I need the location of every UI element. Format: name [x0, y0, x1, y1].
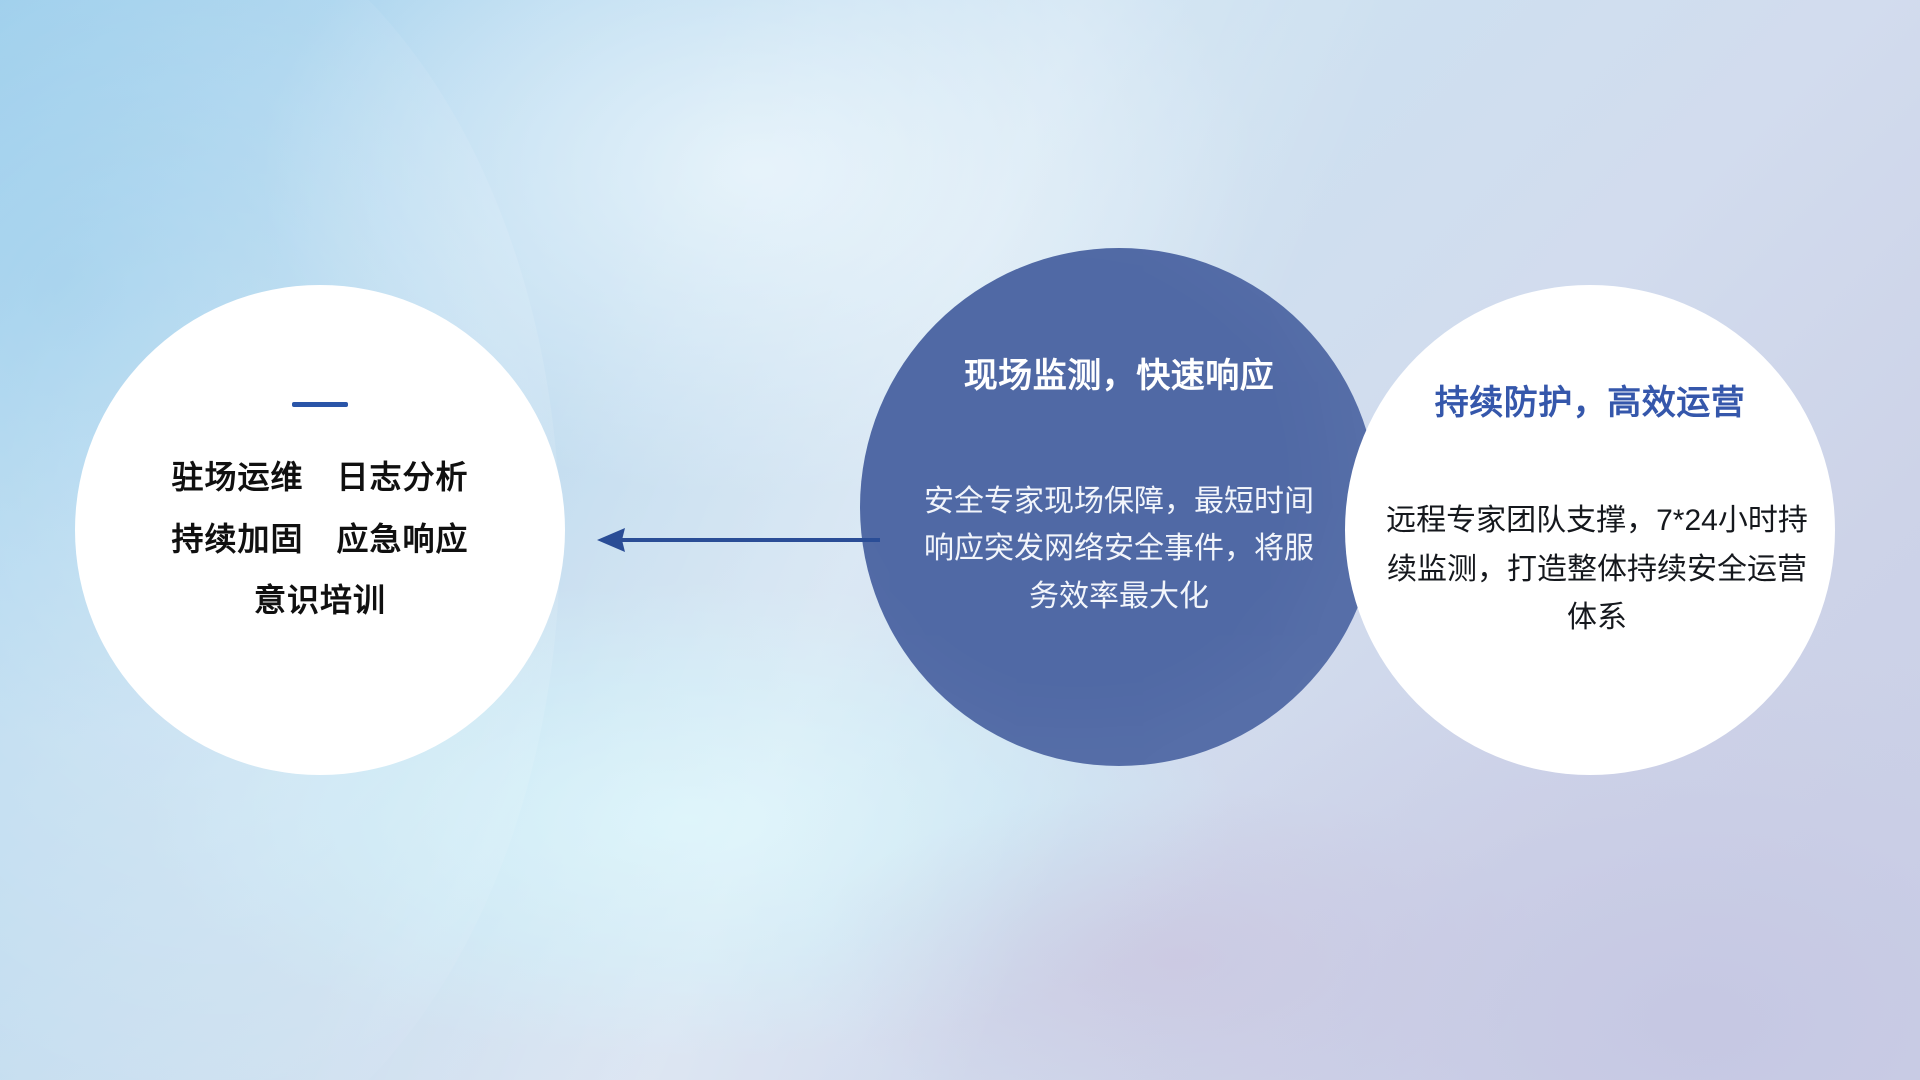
onsite-monitoring-circle[interactable]: 现场监测，快速响应 安全专家现场保障，最短时间响应突发网络安全事件，将服务效率最…: [860, 248, 1378, 766]
list-item: 驻场运维 日志分析: [75, 461, 565, 495]
continuous-operation-circle[interactable]: 持续防护，高效运营 远程专家团队支撑，7*24小时持续监测，打造整体持续安全运营…: [1345, 285, 1835, 775]
accent-divider-dash: [292, 402, 348, 407]
list-item: 持续加固 应急响应: [75, 523, 565, 557]
left-capability-circle[interactable]: 驻场运维 日志分析 持续加固 应急响应 意识培训: [75, 285, 565, 775]
capability-list: 驻场运维 日志分析 持续加固 应急响应 意识培训: [75, 461, 565, 618]
list-item: 意识培训: [75, 584, 565, 618]
onsite-circle-title: 现场监测，快速响应: [860, 348, 1378, 397]
arrow-head-icon: [597, 528, 625, 552]
operation-circle-title: 持续防护，高效运营: [1345, 375, 1835, 424]
slide-canvas: 驻场运维 日志分析 持续加固 应急响应 意识培训 现场监测，快速响应 安全专家现…: [0, 0, 1920, 1080]
onsite-circle-body: 安全专家现场保障，最短时间响应突发网络安全事件，将服务效率最大化: [922, 478, 1316, 620]
flow-arrow-left: [595, 512, 880, 568]
operation-circle-body: 远程专家团队支撑，7*24小时持续监测，打造整体持续安全运营体系: [1383, 497, 1811, 643]
